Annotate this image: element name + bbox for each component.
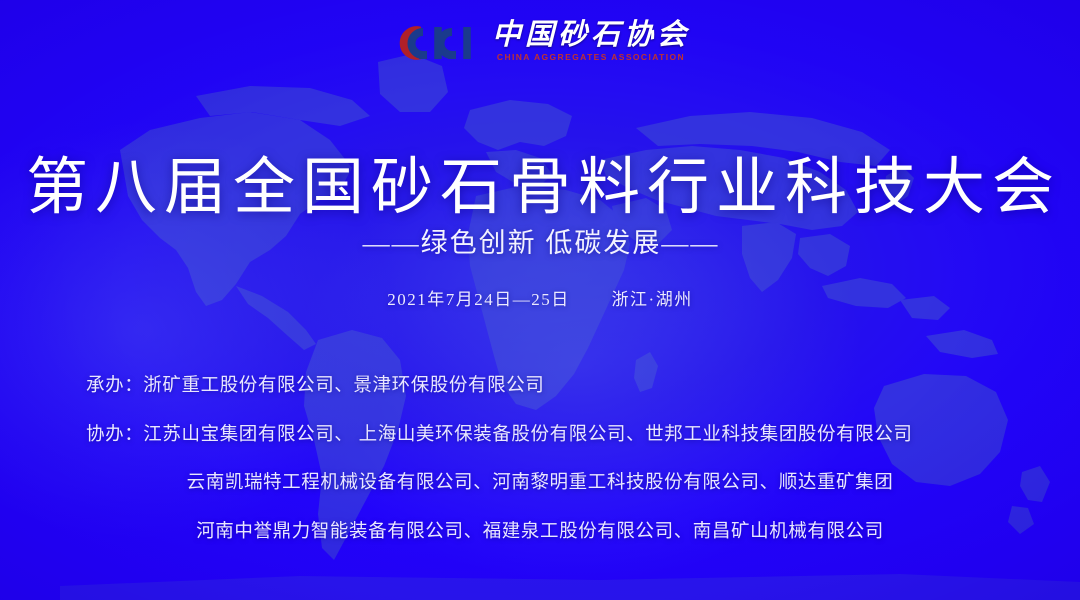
co-organizer-line-1: 协办：江苏山宝集团有限公司、 上海山美环保装备股份有限公司、世邦工业科技集团股份… [0, 426, 1080, 445]
conference-banner: 中国砂石协会 CHINA AGGREGATES ASSOCIATION 第八届全… [0, 0, 1080, 600]
association-name-chinese: 中国砂石协会 [492, 21, 690, 50]
caa-logo-icon [390, 19, 482, 63]
association-name-english: CHINA AGGREGATES ASSOCIATION [497, 53, 685, 62]
co-organizer-line-2: 云南凯瑞特工程机械设备有限公司、河南黎明重工科技股份有限公司、顺达重矿集团 [0, 474, 1080, 493]
conference-title: 第八届全国砂石骨料行业科技大会 [0, 154, 1080, 223]
co-organizer-line-3: 河南中誉鼎力智能装备有限公司、福建泉工股份有限公司、南昌矿山机械有限公司 [0, 523, 1080, 542]
organizer-block: 承办：浙矿重工股份有限公司、景津环保股份有限公司 协办：江苏山宝集团有限公司、 … [0, 377, 1080, 541]
host-organizer-line: 承办：浙矿重工股份有限公司、景津环保股份有限公司 [0, 377, 1080, 396]
association-logo: 中国砂石协会 CHINA AGGREGATES ASSOCIATION [390, 14, 690, 68]
conference-meta: 2021年7月24日—25日 浙江·湖州 [0, 285, 1080, 310]
conference-theme: ——绿色创新 低碳发展—— [0, 221, 1080, 260]
association-name-block: 中国砂石协会 CHINA AGGREGATES ASSOCIATION [492, 21, 690, 62]
conference-place: 浙江·湖州 [612, 290, 693, 309]
conference-date: 2021年7月24日—25日 [387, 290, 570, 309]
